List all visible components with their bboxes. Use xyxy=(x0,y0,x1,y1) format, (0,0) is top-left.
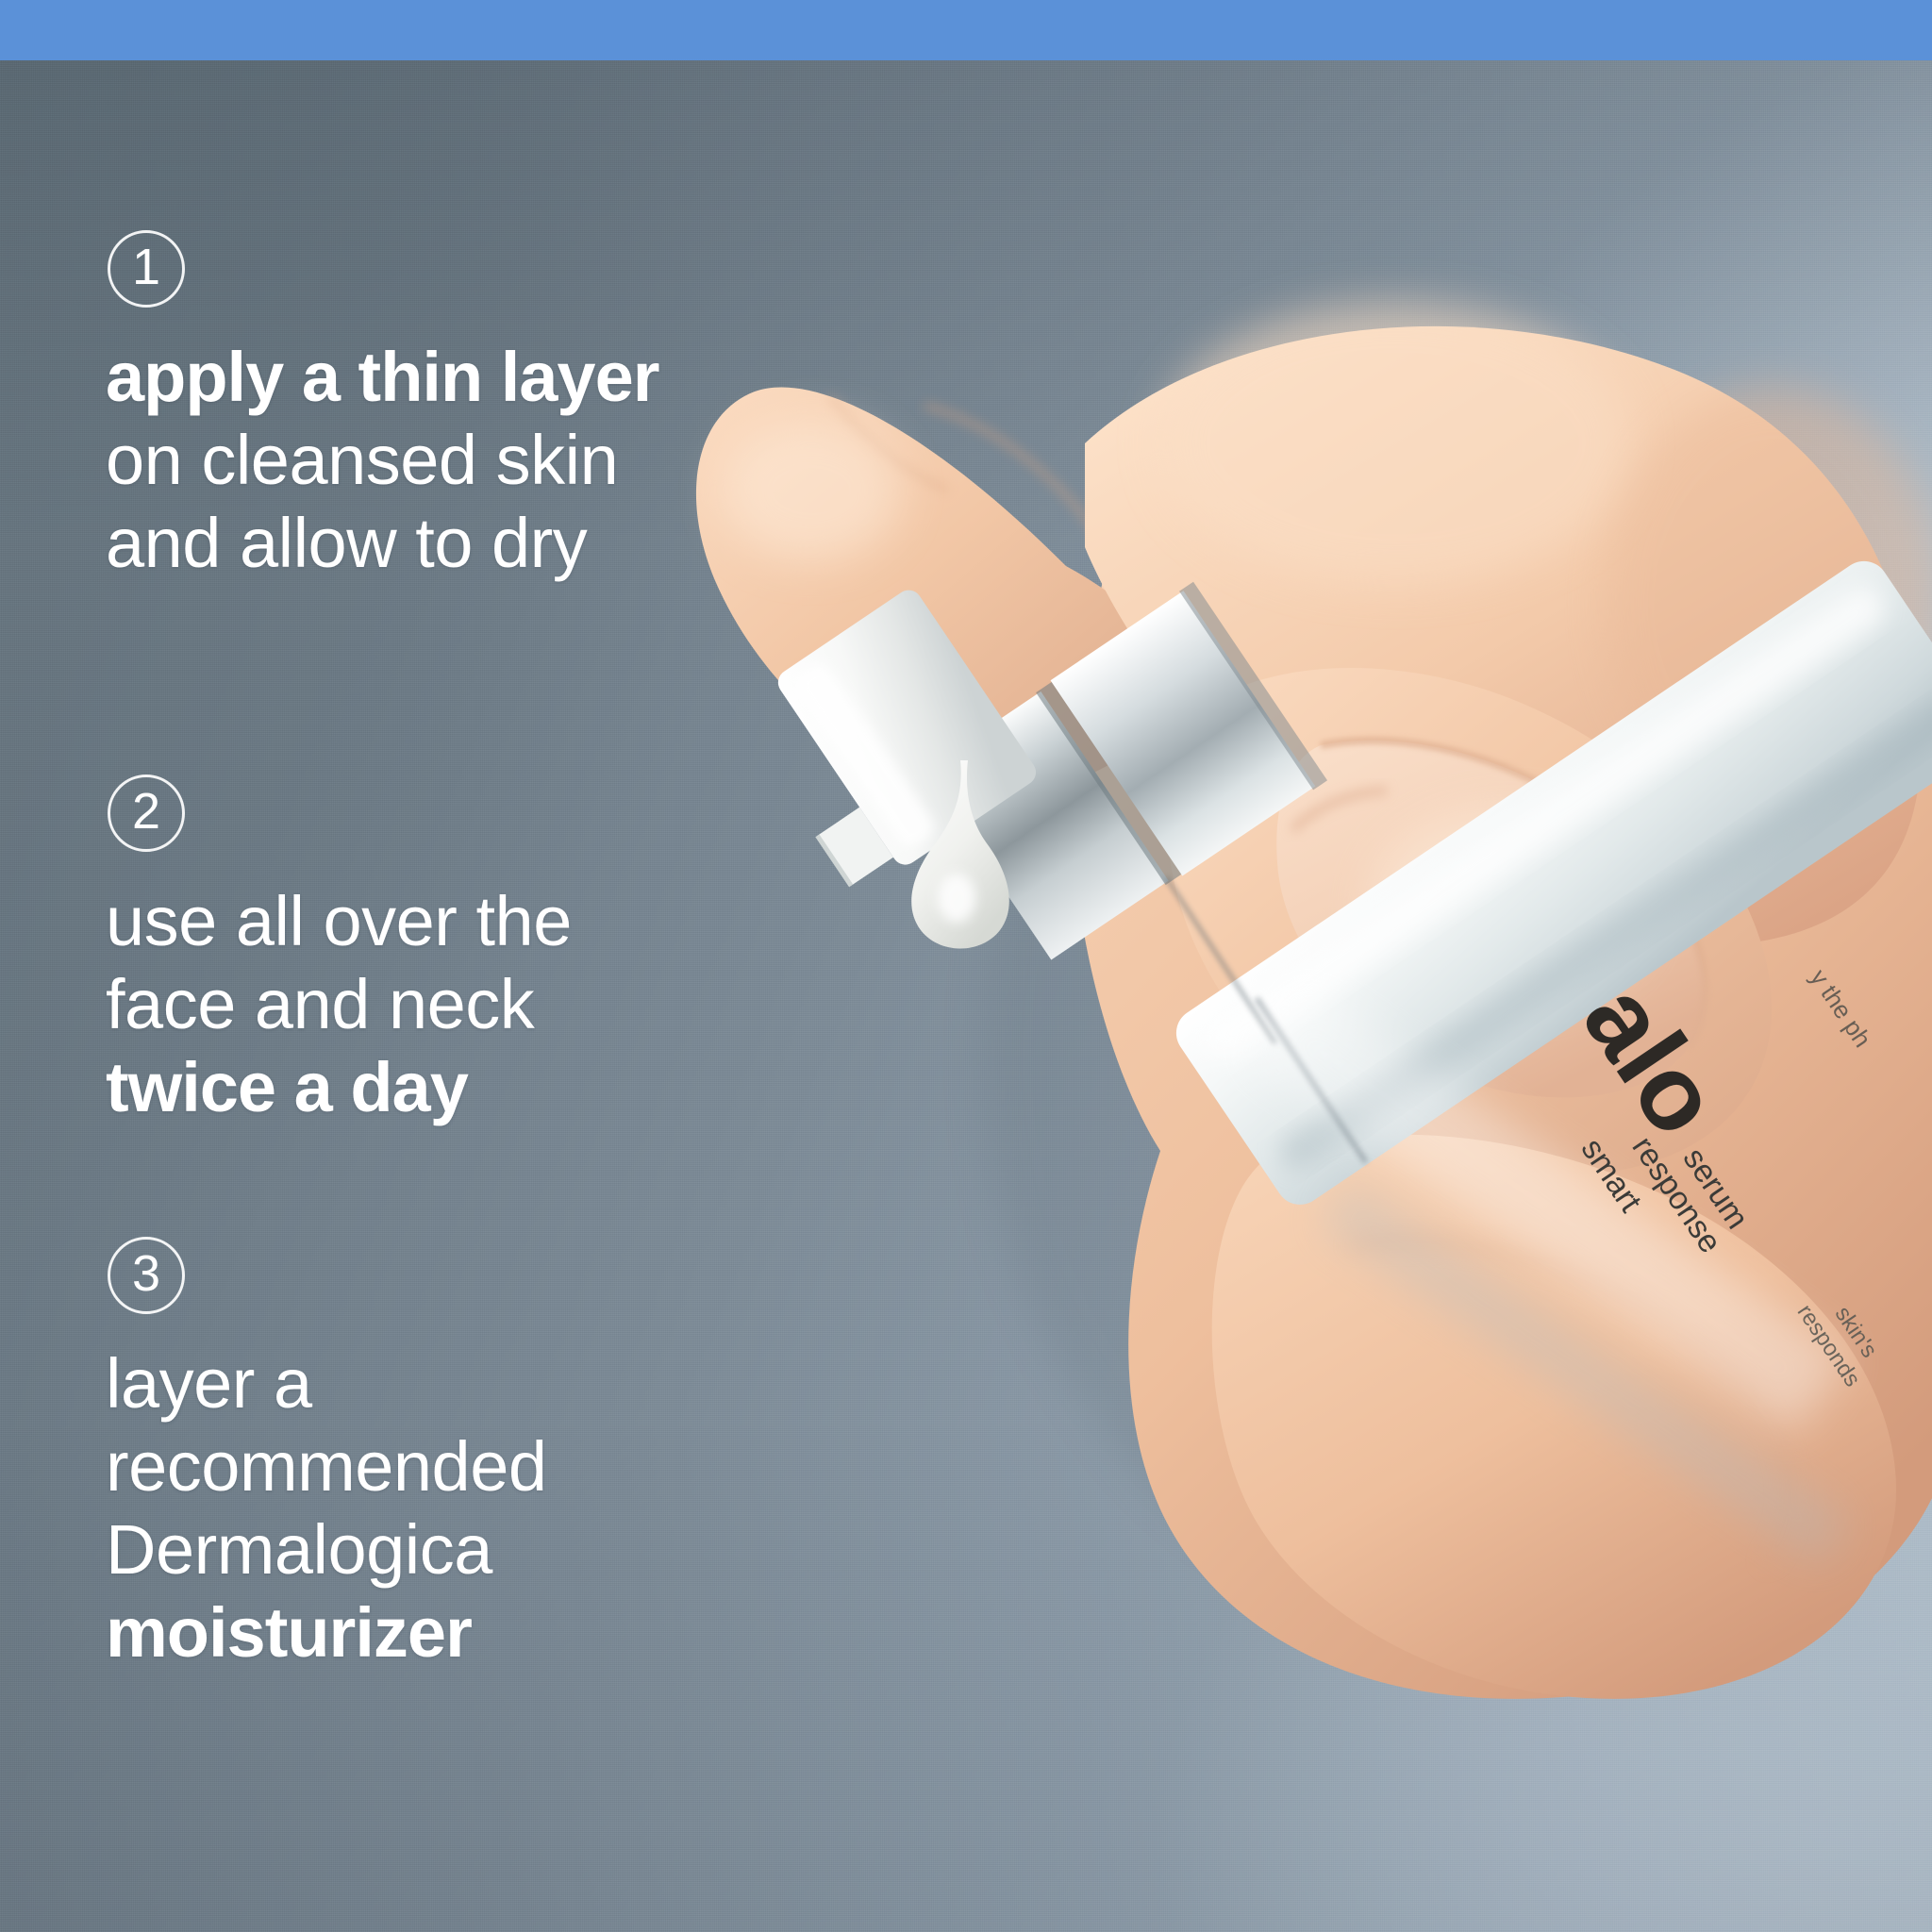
step-2-number: 2 xyxy=(132,786,160,837)
step-3-line-1: layer a xyxy=(106,1342,547,1425)
step-1-line-3: and allow to dry xyxy=(106,502,659,585)
step-1-line-2: on cleansed skin xyxy=(106,419,659,502)
instruction-steps: 1 apply a thin layer on cleansed skin an… xyxy=(0,60,774,1932)
step-1-number-badge: 1 xyxy=(108,230,185,308)
step-3: 3 layer a recommended Dermalogica moistu… xyxy=(106,1237,547,1674)
step-2-line-1: use all over the xyxy=(106,880,572,963)
step-1: 1 apply a thin layer on cleansed skin an… xyxy=(106,230,659,585)
step-1-line-1: apply a thin layer xyxy=(106,336,659,419)
step-3-line-3: Dermalogica xyxy=(106,1508,547,1591)
step-3-number: 3 xyxy=(132,1248,160,1299)
step-2-line-2: face and neck xyxy=(106,963,572,1046)
step-2-text: use all over the face and neck twice a d… xyxy=(106,880,572,1129)
step-3-line-2: recommended xyxy=(106,1425,547,1508)
step-1-text: apply a thin layer on cleansed skin and … xyxy=(106,336,659,585)
step-2: 2 use all over the face and neck twice a… xyxy=(106,774,572,1129)
step-2-line-3: twice a day xyxy=(106,1046,572,1129)
step-3-number-badge: 3 xyxy=(108,1237,185,1314)
step-2-number-badge: 2 xyxy=(108,774,185,852)
top-accent-band xyxy=(0,0,1932,60)
step-3-text: layer a recommended Dermalogica moisturi… xyxy=(106,1342,547,1674)
promo-image: alo y the ph smart response serum respon… xyxy=(0,0,1932,1932)
step-3-line-4: moisturizer xyxy=(106,1591,547,1674)
step-1-number: 1 xyxy=(132,241,160,292)
